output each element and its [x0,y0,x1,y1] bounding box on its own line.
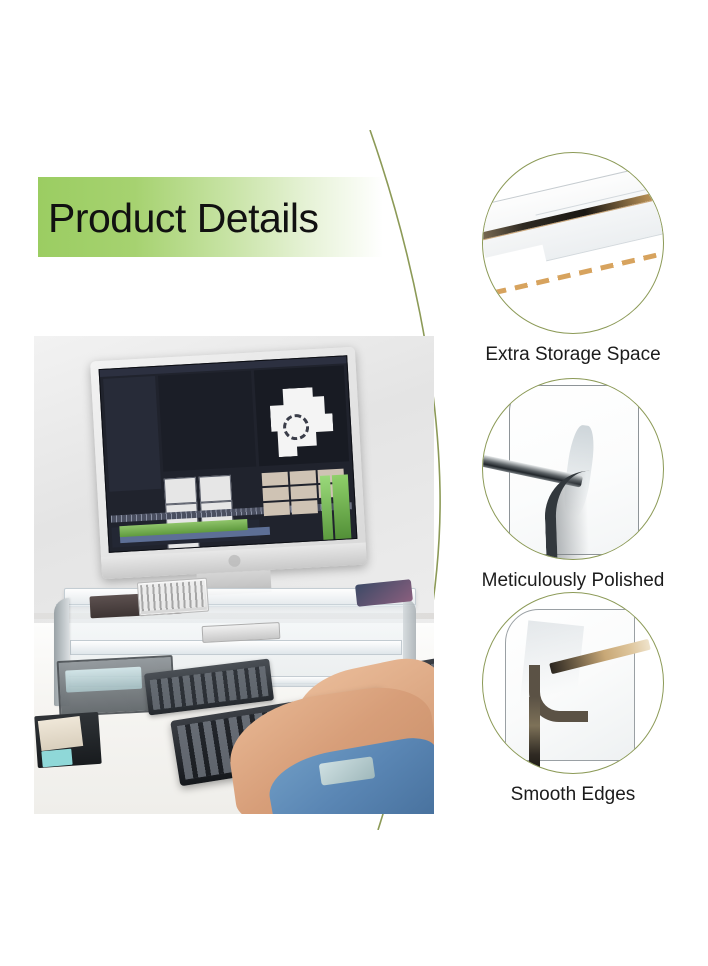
corner-vertical-edge [529,697,540,769]
app-left-panel [103,376,161,492]
brand-logo [228,555,241,568]
storage-dashed-indicator [493,248,664,296]
rounded-corner-icon [482,592,664,774]
product-photo [34,336,434,814]
feature-caption: Meticulously Polished [460,570,686,592]
feature-extra-storage-space: Extra Storage Space [460,152,686,366]
polished-corner-icon [482,378,664,560]
clip-thumbnail-strip [164,473,258,504]
app-viewer-panel [254,365,349,466]
feature-smooth-edges: Smooth Edges [460,592,686,806]
page-title: Product Details [48,186,388,250]
monitor-screen [99,355,358,553]
product-details-page: Product Details [0,0,708,966]
sticky-notes [41,749,72,768]
shelf-edge-icon [482,152,664,334]
feature-caption: Extra Storage Space [460,344,686,366]
feature-caption: Smooth Edges [460,784,686,806]
spiral-organizer [137,578,209,617]
computer-monitor [90,347,367,579]
timeline-panel [111,519,260,547]
stand-inner-shelf [70,640,402,655]
app-preview-panel [158,371,256,472]
feature-meticulously-polished: Meticulously Polished [460,378,686,592]
